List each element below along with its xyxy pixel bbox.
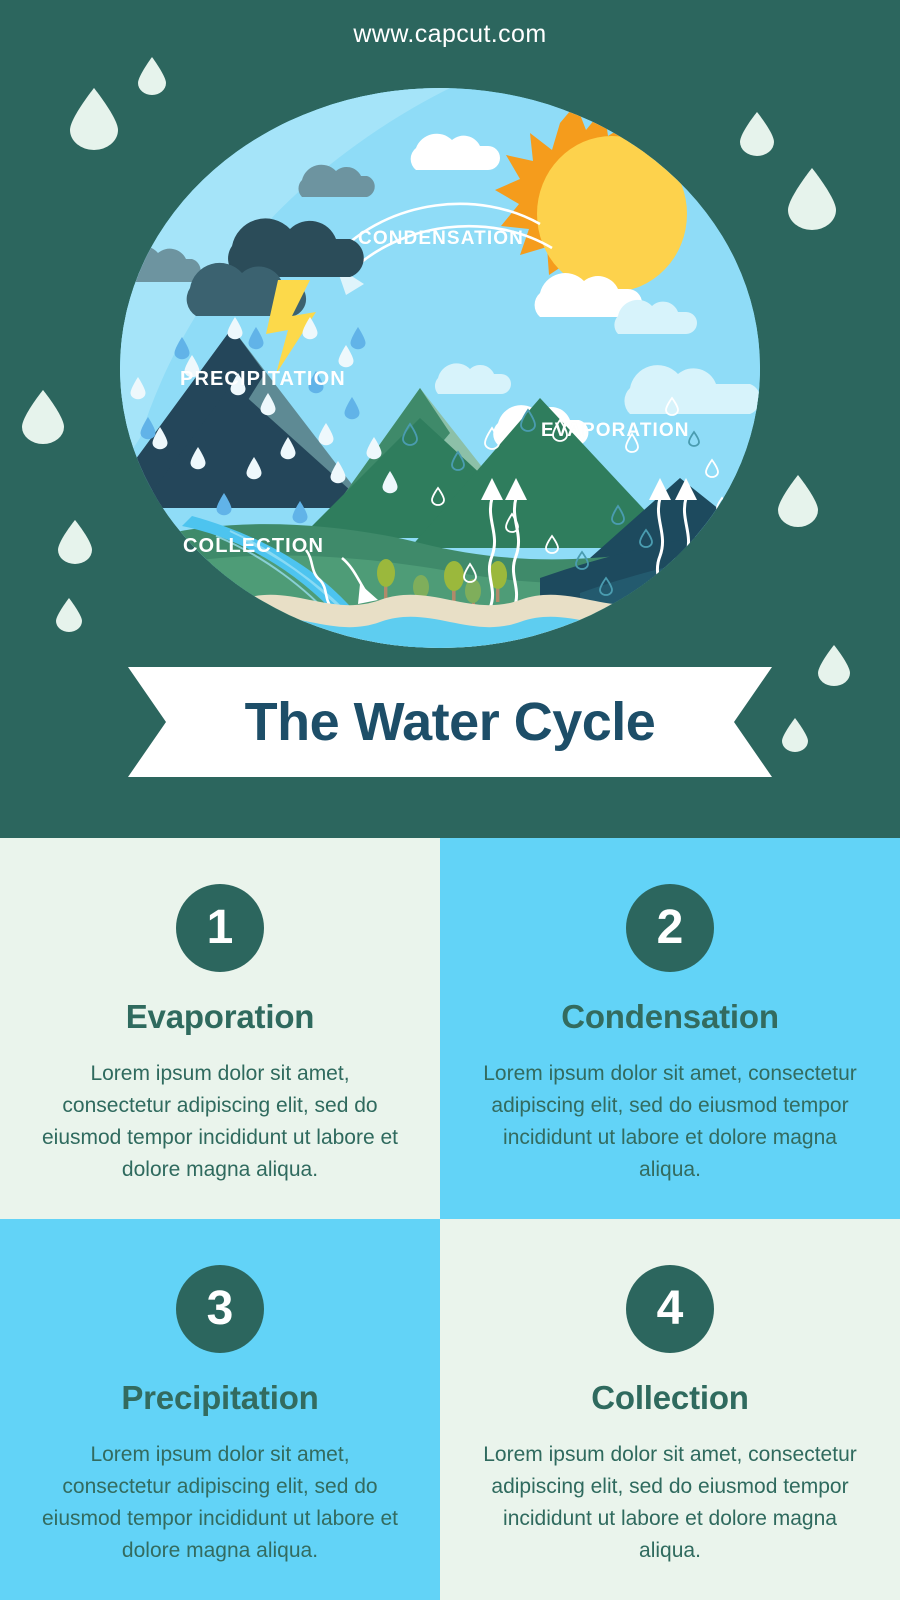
step-body: Lorem ipsum dolor sit amet, consectetur … — [26, 1058, 414, 1186]
infographic-poster: www.capcut.com — [0, 0, 900, 1600]
step-title: Collection — [466, 1379, 874, 1417]
raindrop-icon — [22, 390, 64, 444]
site-url-text: www.capcut.com — [0, 20, 900, 49]
label-precipitation: PRECIPITATION — [180, 368, 346, 391]
step-card-precipitation[interactable]: 3 Precipitation Lorem ipsum dolor sit am… — [0, 1219, 440, 1600]
step-number-badge: 3 — [176, 1265, 264, 1353]
hero-section: www.capcut.com — [0, 0, 900, 838]
step-number-badge: 4 — [626, 1265, 714, 1353]
raindrop-icon — [788, 168, 836, 230]
step-card-collection[interactable]: 4 Collection Lorem ipsum dolor sit amet,… — [440, 1219, 900, 1600]
step-number-badge: 2 — [626, 884, 714, 972]
raindrop-icon — [58, 520, 92, 564]
step-card-evaporation[interactable]: 1 Evaporation Lorem ipsum dolor sit amet… — [0, 838, 440, 1219]
raindrop-icon — [782, 718, 808, 752]
step-title: Precipitation — [26, 1379, 414, 1417]
label-evaporation: EVAPORATION — [541, 420, 690, 442]
steps-grid: 1 Evaporation Lorem ipsum dolor sit amet… — [0, 838, 900, 1600]
raindrop-icon — [740, 112, 774, 156]
raindrop-icon — [70, 88, 118, 150]
step-title: Condensation — [466, 998, 874, 1036]
label-condensation: CONDENSATION — [358, 228, 524, 250]
raindrop-icon — [818, 645, 850, 687]
step-body: Lorem ipsum dolor sit amet, consectetur … — [466, 1439, 874, 1567]
page-title: The Water Cycle — [128, 667, 772, 777]
raindrop-icon — [138, 57, 166, 95]
tree-icon — [159, 570, 175, 605]
step-title: Evaporation — [26, 998, 414, 1036]
raindrop-icon — [778, 475, 818, 527]
raindrop-icon — [56, 598, 82, 632]
step-body: Lorem ipsum dolor sit amet, consectetur … — [26, 1439, 414, 1567]
step-number-badge: 1 — [176, 884, 264, 972]
label-collection: COLLECTION — [183, 535, 324, 558]
step-body: Lorem ipsum dolor sit amet, consectetur … — [466, 1058, 874, 1186]
step-card-condensation[interactable]: 2 Condensation Lorem ipsum dolor sit ame… — [440, 838, 900, 1219]
ocean-wave-icon — [120, 592, 760, 648]
